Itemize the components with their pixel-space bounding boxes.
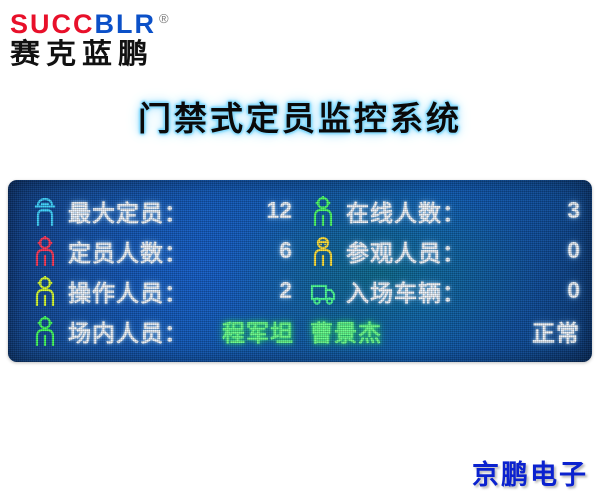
person-visitor-icon [310, 236, 336, 266]
led-content-grid: 最大定员： 12 在线人数： 3 [8, 180, 592, 362]
brand-logo-latin: SUCCBLR® [8, 4, 238, 39]
brand-logo-succ: SUCC [10, 9, 95, 39]
onsite-name: 曹景杰 [310, 314, 382, 348]
registered-trademark-icon: ® [159, 11, 169, 26]
led-cell-operator-count: 操作人员： 2 [8, 270, 310, 311]
led-row: 最大定员： 12 在线人数： 3 [8, 190, 592, 231]
led-label: 定员人数： [68, 234, 188, 268]
led-display-panel: 最大定员： 12 在线人数： 3 [8, 180, 592, 362]
led-value: 0 [567, 237, 580, 264]
led-value: 3 [567, 197, 580, 224]
led-cell-vehicle-count: 入场车辆： 0 [310, 270, 592, 311]
footer-brand: 京鹏电子 [472, 453, 588, 492]
person-helmet-icon [32, 196, 58, 226]
led-value: 12 [266, 197, 292, 224]
brand-logo-chinese: 赛克蓝鹏 [8, 39, 238, 70]
led-label: 入场车辆： [346, 274, 466, 308]
led-row: 操作人员： 2 入场车辆： 0 [8, 270, 592, 311]
person-green-icon [310, 196, 336, 226]
person-red-icon [32, 236, 58, 266]
person-yellow-icon [32, 276, 58, 306]
led-label: 参观人员： [346, 234, 466, 268]
led-label: 操作人员： [68, 274, 188, 308]
led-row: 定员人数： 6 参观人员： 0 [8, 230, 592, 271]
led-value: 6 [279, 237, 292, 264]
led-cell-max-capacity: 最大定员： 12 [8, 190, 310, 231]
truck-icon [310, 276, 336, 306]
led-cell-visitor-count: 参观人员： 0 [310, 230, 592, 271]
brand-logo-blr: BLR [95, 9, 157, 39]
led-label: 在线人数： [346, 194, 466, 228]
led-row-onsite: 场内人员： 程军坦 曹景杰 正常 [8, 310, 592, 351]
person-onsite-icon [32, 316, 58, 346]
led-value: 2 [279, 277, 292, 304]
led-cell-assigned-count: 定员人数： 6 [8, 230, 310, 271]
led-value: 0 [567, 277, 580, 304]
brand-logo: SUCCBLR® 赛克蓝鹏 [8, 4, 238, 74]
onsite-name-list: 程军坦 曹景杰 [222, 310, 382, 351]
led-label: 最大定员： [68, 194, 188, 228]
status-badge: 正常 [532, 310, 580, 351]
page-title: 门禁式定员监控系统 [0, 92, 600, 140]
led-cell-online-count: 在线人数： 3 [310, 190, 592, 231]
led-label: 场内人员： [68, 314, 188, 348]
onsite-name: 程军坦 [222, 314, 294, 348]
